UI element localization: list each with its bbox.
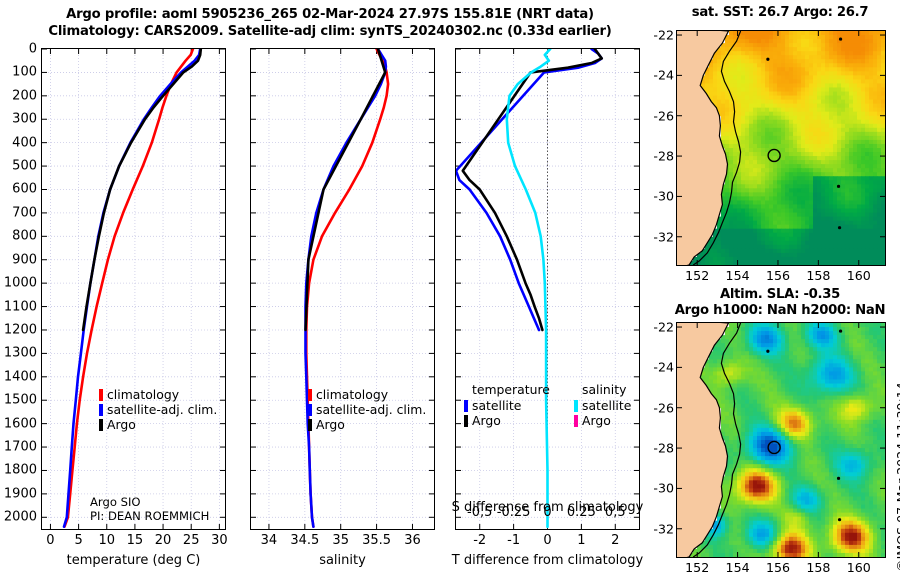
salinity-plot-area [251,49,434,529]
salinity-axis-label: salinity [250,553,435,568]
difference-legend-heading: salinity [574,382,631,398]
temperature-legend-item: Argo [99,417,217,432]
salinity-legend-item: satellite-adj. clim. [308,402,426,417]
difference-legend-item: Argo [464,413,550,428]
temperature-axis-label: temperature (deg C) [41,553,226,568]
temperature-legend-label: climatology [107,387,179,402]
map-latitude-label: -22 [653,320,674,335]
map-longitude-label: 152 [685,268,709,283]
map-longitude-label: 152 [685,560,709,575]
difference-legend-item: satellite [574,398,631,413]
sla-title-line-1: Altim. SLA: -0.35 [660,287,900,303]
salinity-legend-label: satellite-adj. clim. [316,402,426,417]
map-latitude-label: -22 [653,28,674,43]
map-longitude-label: 158 [806,560,830,575]
map-longitude-label: 156 [766,268,790,283]
map-latitude-label: -30 [653,481,674,496]
temperature-legend-label: Argo [107,417,136,432]
legend-color-swatch [308,419,312,431]
attribution-line: Argo SIO [90,495,209,509]
t-difference-axis-label: T difference from climatology [440,553,655,568]
temperature-plot-area [42,49,225,529]
salinity-legend-item: Argo [308,417,426,432]
title-line-2: Climatology: CARS2009. Satellite-adj cli… [0,23,660,40]
map-latitude-label: -26 [653,400,674,415]
temperature-legend-item: satellite-adj. clim. [99,402,217,417]
title-line-1: Argo profile: aoml 5905236_265 02-Mar-20… [0,6,660,23]
sst-map-panel: 152154156158160-22-24-26-28-30-32 [676,30,886,266]
legend-color-swatch [574,400,578,412]
temperature-legend-item: climatology [99,387,217,402]
legend-color-swatch [574,415,578,427]
sla-map-image [677,323,885,557]
difference-legend-heading: temperature [464,382,550,398]
difference-legend-group: temperaturesatelliteArgo [464,382,550,428]
legend-color-swatch [99,389,103,401]
salinity-legend: climatologysatellite-adj. clim.Argo [308,387,426,432]
map-longitude-label: 160 [847,268,871,283]
s-difference-axis-label: S difference from climatology [440,500,655,515]
map-longitude-label: 154 [726,560,750,575]
map-longitude-label: 154 [726,268,750,283]
difference-profile-panel: -2-1012-0,5-0.2500.250,5temperaturesatel… [455,48,640,530]
legend-color-swatch [99,404,103,416]
map-longitude-label: 160 [847,560,871,575]
sla-map-panel: 152154156158160-22-24-26-28-30-32 [676,322,886,558]
difference-legend-label: satellite [472,398,521,413]
legend-color-swatch [464,415,468,427]
sla-map-title: Altim. SLA: -0.35 Argo h1000: NaN h2000:… [660,287,900,319]
difference-plot-area [456,49,639,529]
map-longitude-label: 158 [806,268,830,283]
sst-map-title: sat. SST: 26.7 Argo: 26.7 [660,5,900,21]
attribution-line: PI: DEAN ROEMMICH [90,509,209,523]
sla-title-line-2: Argo h1000: NaN h2000: NaN [660,303,900,319]
temperature-legend: climatologysatellite-adj. clim.Argo [99,387,217,432]
difference-legend-group: salinitysatelliteArgo [574,382,631,428]
temperature-legend-label: satellite-adj. clim. [107,402,217,417]
difference-legend-label: satellite [582,398,631,413]
salinity-legend-label: climatology [316,387,388,402]
temperature-profile-panel: 0100200300400500600700800900100011001200… [41,48,226,530]
difference-legend-label: Argo [582,413,611,428]
legend-color-swatch [99,419,103,431]
difference-legend-item: Argo [574,413,631,428]
map-latitude-label: -26 [653,108,674,123]
imos-credit: ©IMOS 07-Mar-2024 11:39:14 [894,382,900,572]
difference-legend-label: Argo [472,413,501,428]
salinity-legend-label: Argo [316,417,345,432]
legend-color-swatch [464,400,468,412]
attribution-note: Argo SIOPI: DEAN ROEMMICH [90,495,209,523]
sst-map-image [677,31,885,265]
map-longitude-label: 156 [766,560,790,575]
map-latitude-label: -28 [653,149,674,164]
page-title: Argo profile: aoml 5905236_265 02-Mar-20… [0,6,660,40]
map-latitude-label: -32 [653,229,674,244]
difference-legend-item: satellite [464,398,550,413]
map-latitude-label: -30 [653,189,674,204]
map-latitude-label: -24 [653,68,674,83]
map-latitude-label: -32 [653,521,674,536]
salinity-legend-item: climatology [308,387,426,402]
legend-color-swatch [308,404,312,416]
salinity-profile-panel: 3434.53535.536climatologysatellite-adj. … [250,48,435,530]
map-latitude-label: -24 [653,360,674,375]
legend-color-swatch [308,389,312,401]
map-latitude-label: -28 [653,441,674,456]
